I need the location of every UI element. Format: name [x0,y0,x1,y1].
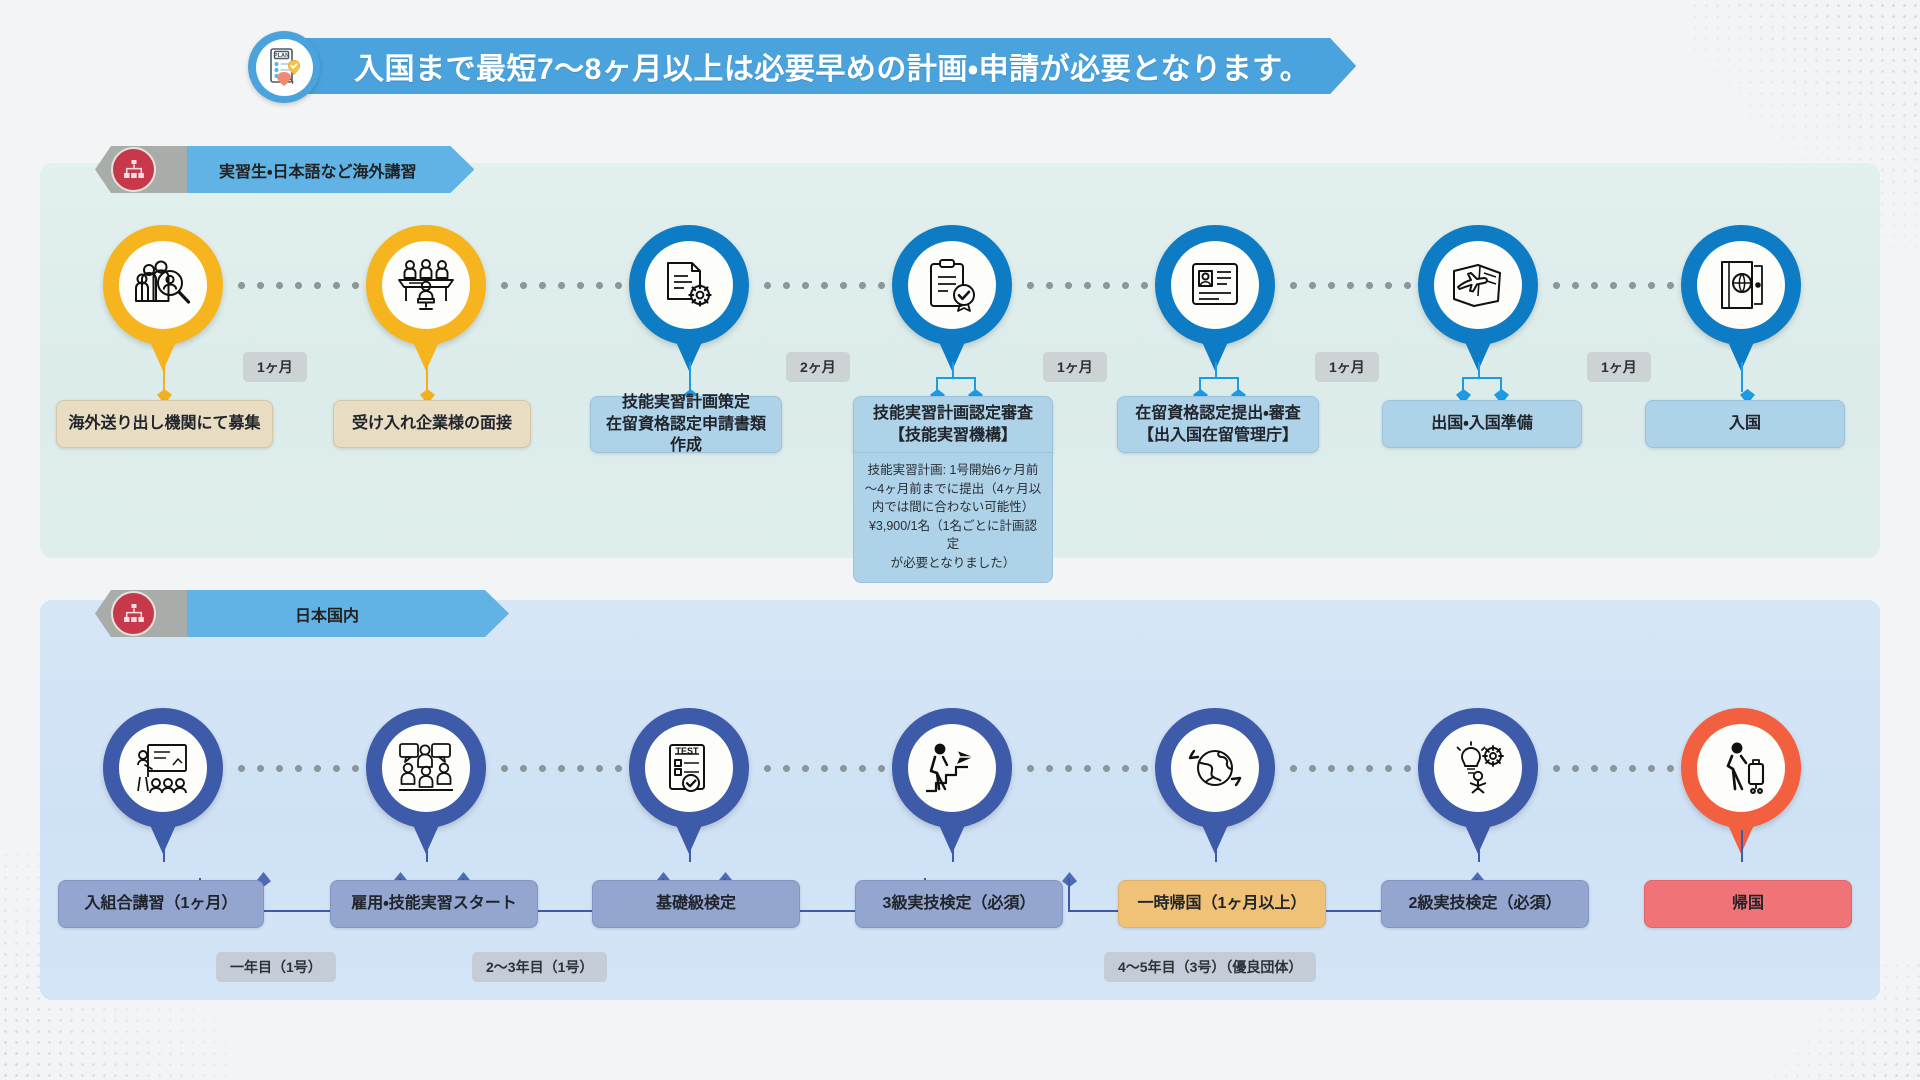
step-label: 2級実技検定（必須） [1409,893,1562,914]
step-pin-domestic-4[interactable] [892,708,1012,828]
connector-dots [1284,765,1419,772]
organization-chart-icon [111,591,156,636]
year-bracket-chip-1: 一年目（1号） [216,952,336,982]
connector-dots [1547,765,1682,772]
connector-dots [758,765,893,772]
step-box-domestic-4[interactable]: 3級実技検定（必須） [855,880,1063,928]
pin-ring [103,708,223,828]
step-label: 一時帰国（1ヶ月以上） [1138,893,1307,914]
step-box-domestic-1[interactable]: 入組合講習（1ヶ月） [58,880,264,928]
connector-dots [1021,765,1156,772]
career-stairs-icon [908,724,996,812]
pin-ring: TEST [629,708,749,828]
training-group-icon [382,724,470,812]
step-label: 雇用・技能実習スタート [351,893,516,914]
step-pin-domestic-6[interactable] [1418,708,1538,828]
pin-to-box-connectors-domestic [0,812,1920,872]
classroom-lecture-icon [119,724,207,812]
connector-dots [495,765,630,772]
globe-return-icon [1171,724,1259,812]
pin-ring [892,708,1012,828]
pin-ring [1418,708,1538,828]
step-pin-domestic-5[interactable] [1155,708,1275,828]
step-box-domestic-2[interactable]: 雇用・技能実習スタート [330,880,538,928]
step-pin-domestic-7[interactable] [1681,708,1801,828]
timeline-domestic: TEST [0,0,1920,1080]
connector-dots [232,765,370,772]
skill-idea-gear-icon [1434,724,1522,812]
step-label: 3級実技検定（必須） [883,893,1036,914]
plan-checklist-icon: PLAN [256,39,313,96]
step-label: 帰国 [1732,893,1764,914]
step-box-domestic-7[interactable]: 帰国 [1644,880,1852,928]
pin-ring [1681,708,1801,828]
step-pin-domestic-1[interactable] [103,708,223,828]
step-label: 入組合講習（1ヶ月） [85,893,238,914]
organization-chart-icon [111,147,156,192]
pin-ring [1155,708,1275,828]
title-badge: PLAN [248,31,320,103]
step-box-domestic-6[interactable]: 2級実技検定（必須） [1381,880,1589,928]
step-pin-domestic-3[interactable]: TEST [629,708,749,828]
svg-text:TEST: TEST [675,746,699,756]
step-box-domestic-5[interactable]: 一時帰国（1ヶ月以上） [1118,880,1326,928]
step-pin-domestic-2[interactable] [366,708,486,828]
pin-ring [366,708,486,828]
year-bracket-chip-2: 2〜3年目（1号） [472,952,607,982]
step-label: 基礎級検定 [656,893,736,914]
traveler-luggage-icon [1697,724,1785,812]
year-bracket-chip-3: 4〜5年目（3号）（優良団体） [1104,952,1316,982]
step-box-domestic-3[interactable]: 基礎級検定 [592,880,800,928]
svg-text:PLAN: PLAN [274,53,289,59]
test-checklist-icon: TEST [645,724,733,812]
